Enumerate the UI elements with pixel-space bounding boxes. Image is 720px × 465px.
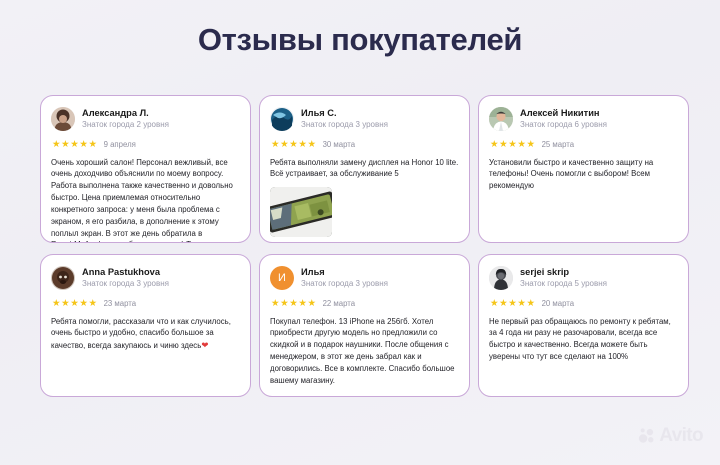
review-header: И Илья Знаток города 3 уровня (270, 266, 459, 290)
star-rating-icon: ★★★★★ (271, 140, 317, 150)
rating-row: ★★★★★ 25 марта (490, 140, 678, 150)
avatar-aleksey-nikitin (489, 107, 513, 131)
review-date: 20 марта (542, 300, 575, 308)
review-text: Установили быстро и качественно защиту н… (489, 157, 678, 193)
reviewer-name: Алексей Никитин (520, 108, 607, 119)
review-date: 25 марта (542, 141, 575, 149)
review-card[interactable]: Александра Л. Знаток города 2 уровня ★★★… (40, 95, 251, 243)
reviewer-rank: Знаток города 3 уровня (301, 279, 388, 289)
reviewer-name: serjei skrip (520, 267, 607, 278)
review-date: 30 марта (323, 141, 356, 149)
review-card[interactable]: serjei skrip Знаток города 5 уровня ★★★★… (478, 254, 689, 397)
reviewer-rank: Знаток города 3 уровня (301, 120, 388, 130)
avito-watermark: Avito (638, 426, 703, 445)
avatar-aleksandra (51, 107, 75, 131)
review-header: Anna Pastukhova Знаток города 3 уровня (51, 266, 240, 290)
review-photo-phone[interactable] (270, 187, 332, 237)
rating-row: ★★★★★ 22 марта (271, 299, 459, 309)
star-rating-icon: ★★★★★ (52, 299, 98, 309)
reviewer-rank: Знаток города 2 уровня (82, 120, 169, 130)
avatar-anna-pastukhova (51, 266, 75, 290)
review-card[interactable]: Алексей Никитин Знаток города 6 уровня ★… (478, 95, 689, 243)
reviewer-rank: Знаток города 6 уровня (520, 120, 607, 130)
reviewer-name: Anna Pastukhova (82, 267, 169, 278)
rating-row: ★★★★★ 9 апреля (52, 140, 240, 150)
rating-row: ★★★★★ 23 марта (52, 299, 240, 309)
reviewer-name: Илья С. (301, 108, 388, 119)
review-text: Ребята выполняли замену дисплея на Honor… (270, 157, 459, 181)
rating-row: ★★★★★ 30 марта (271, 140, 459, 150)
review-text: Ребята помогли, рассказали что и как слу… (51, 316, 240, 353)
avatar-initial-letter: И (278, 272, 286, 284)
reviewer-name: Илья (301, 267, 388, 278)
reviewer-name: Александра Л. (82, 108, 169, 119)
avatar-ilya-s (270, 107, 294, 131)
avito-dots-icon (638, 427, 655, 444)
review-card[interactable]: Anna Pastukhova Знаток города 3 уровня ★… (40, 254, 251, 397)
review-header: Александра Л. Знаток города 2 уровня (51, 107, 240, 131)
star-rating-icon: ★★★★★ (52, 140, 98, 150)
star-rating-icon: ★★★★★ (271, 299, 317, 309)
review-header: Алексей Никитин Знаток города 6 уровня (489, 107, 678, 131)
avito-wordmark: Avito (659, 426, 703, 445)
star-rating-icon: ★★★★★ (490, 299, 536, 309)
review-text: Покупал телефон. 13 iPhone на 256гб. Хот… (270, 316, 459, 387)
review-date: 23 марта (104, 300, 137, 308)
avatar-ilya: И (270, 266, 294, 290)
reviewer-rank: Знаток города 3 уровня (82, 279, 169, 289)
review-text: Не первый раз обращаюсь по ремонту к реб… (489, 316, 678, 363)
reviews-grid: Александра Л. Знаток города 2 уровня ★★★… (40, 95, 680, 397)
star-rating-icon: ★★★★★ (490, 140, 536, 150)
review-header: Илья С. Знаток города 3 уровня (270, 107, 459, 131)
review-card[interactable]: Илья С. Знаток города 3 уровня ★★★★★ 30 … (259, 95, 470, 243)
heart-emoji-icon: ❤ (201, 340, 208, 350)
review-text: Очень хороший салон! Персонал вежливый, … (51, 157, 240, 244)
page-title: Отзывы покупателей (0, 0, 720, 58)
review-card[interactable]: И Илья Знаток города 3 уровня ★★★★★ 22 м… (259, 254, 470, 397)
rating-row: ★★★★★ 20 марта (490, 299, 678, 309)
reviewer-rank: Знаток города 5 уровня (520, 279, 607, 289)
review-header: serjei skrip Знаток города 5 уровня (489, 266, 678, 290)
avatar-serjei-skrip (489, 266, 513, 290)
review-date: 9 апреля (104, 141, 136, 149)
review-date: 22 марта (323, 300, 356, 308)
